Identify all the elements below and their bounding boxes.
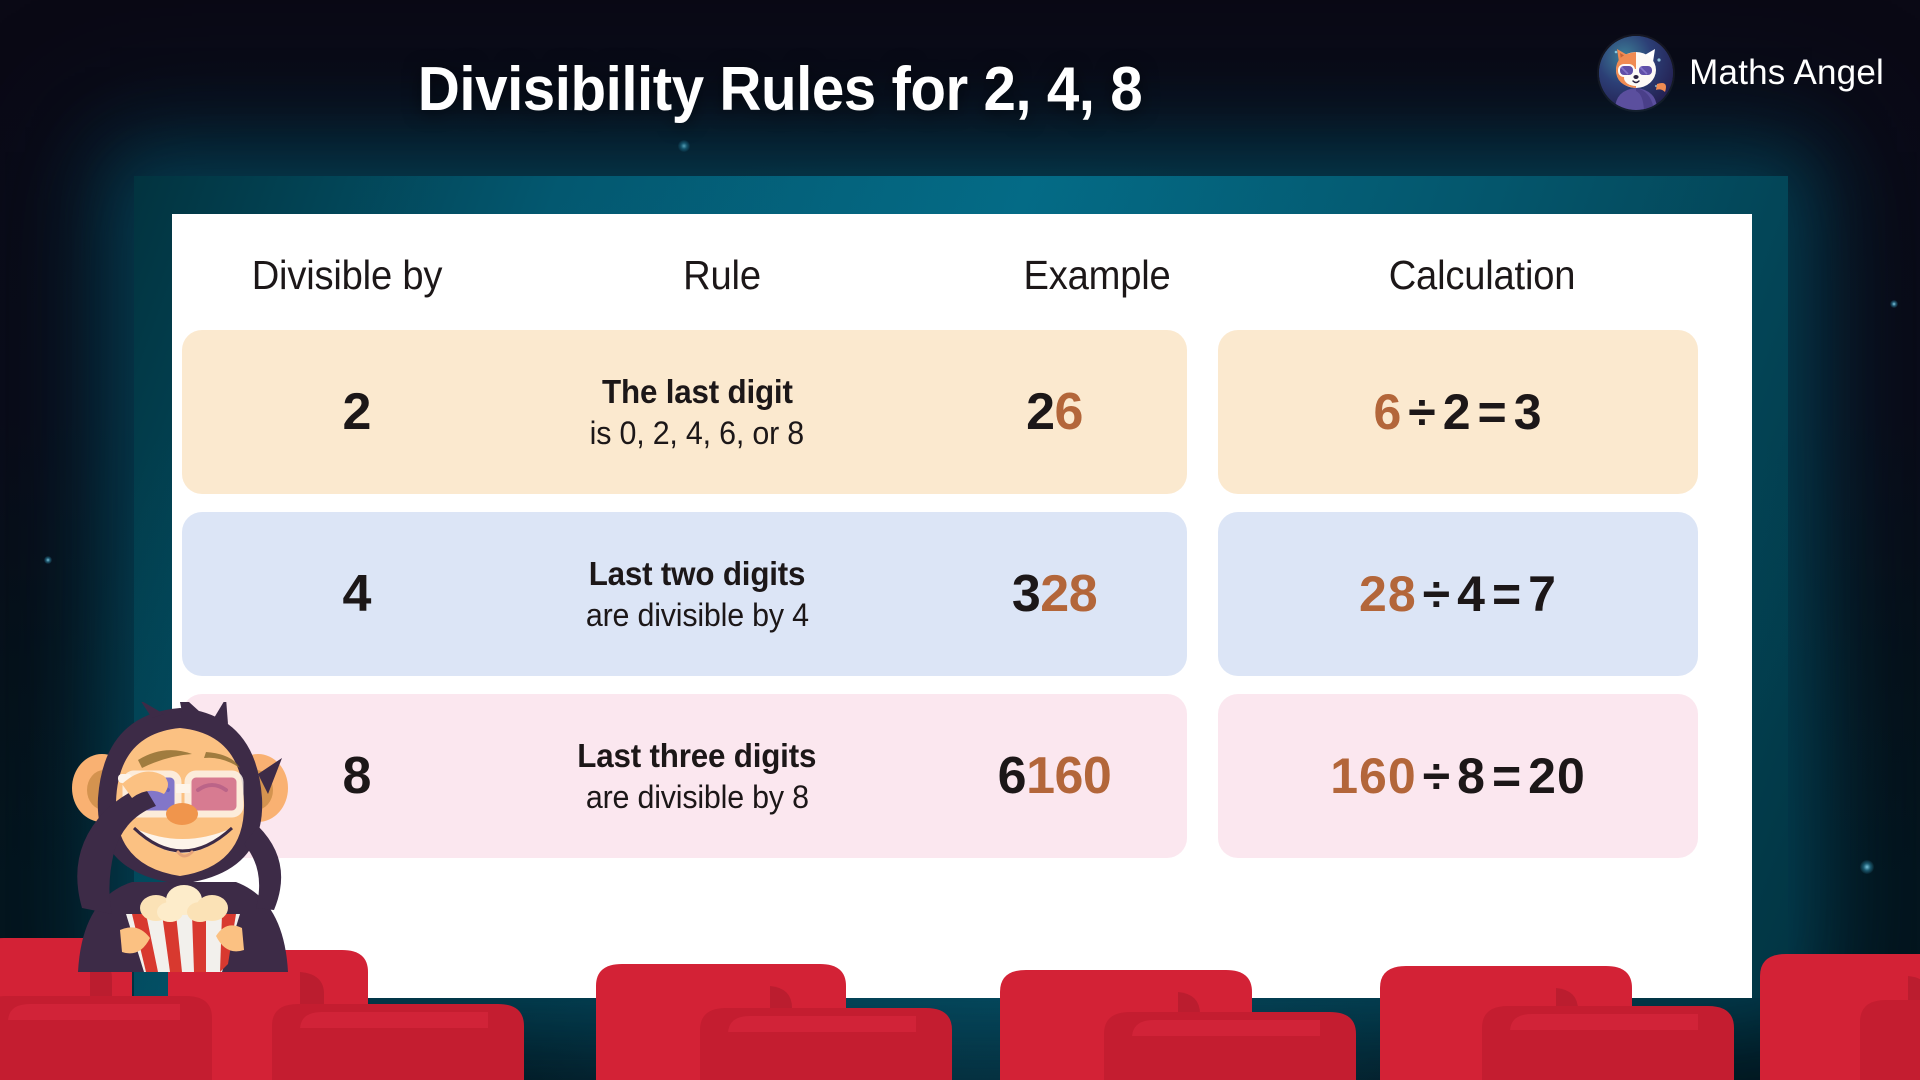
rule-primary-text: The last digit <box>602 373 793 411</box>
rule-primary-text: Last two digits <box>589 555 806 593</box>
maths-angel-fox-badge-icon <box>1599 36 1673 110</box>
calculation-expression: 28÷4=7 <box>1359 565 1557 623</box>
rule-secondary-text: are divisible by 8 <box>585 779 808 816</box>
divide-icon: ÷ <box>1417 566 1457 622</box>
cell-rule: The last digit is 0, 2, 4, 6, or 8 <box>482 330 912 494</box>
calc-divisor: 8 <box>1457 748 1486 804</box>
calc-divisor: 4 <box>1457 566 1486 622</box>
calc-result: 7 <box>1528 566 1557 622</box>
example-prefix: 3 <box>1012 564 1040 624</box>
equals-icon: = <box>1486 748 1528 804</box>
divide-icon: ÷ <box>1402 384 1442 440</box>
brand-name: Maths Angel <box>1689 53 1884 93</box>
cell-divisor: 2 <box>232 330 482 494</box>
example-highlight: 28 <box>1040 564 1097 624</box>
row-calculation-card: 6÷2=3 <box>1218 330 1698 494</box>
example-highlight: 6 <box>1055 382 1083 442</box>
table-row: 8 Last three digits are divisible by 8 6… <box>172 694 1752 858</box>
example-prefix: 2 <box>1026 382 1054 442</box>
calc-dividend: 6 <box>1373 384 1402 440</box>
sparkle-dot <box>1860 860 1874 874</box>
calc-result: 20 <box>1528 748 1586 804</box>
column-header-calculation: Calculation <box>1296 252 1668 299</box>
row-calculation-card: 160÷8=20 <box>1218 694 1698 858</box>
column-header-rule: Rule <box>564 252 880 299</box>
row-body-card: 8 Last three digits are divisible by 8 6… <box>182 694 1187 858</box>
row-calculation-card: 28÷4=7 <box>1218 512 1698 676</box>
example-highlight: 160 <box>1026 746 1111 806</box>
table-header-row: Divisible by Rule Example Calculation <box>172 252 1752 314</box>
calc-result: 3 <box>1514 384 1543 440</box>
cell-example: 328 <box>922 512 1187 676</box>
cell-example: 6160 <box>922 694 1187 858</box>
sparkle-dot <box>1890 300 1898 308</box>
cell-divisor: 4 <box>232 512 482 676</box>
divide-icon: ÷ <box>1417 748 1457 804</box>
table-row: 4 Last two digits are divisible by 4 328… <box>172 512 1752 676</box>
calc-dividend: 160 <box>1330 748 1416 804</box>
column-header-divisible-by: Divisible by <box>194 252 501 299</box>
equals-icon: = <box>1486 566 1528 622</box>
sparkle-dot <box>44 556 52 564</box>
column-header-example: Example <box>944 252 1251 299</box>
cell-example: 26 <box>922 330 1187 494</box>
row-body-card: 2 The last digit is 0, 2, 4, 6, or 8 26 <box>182 330 1187 494</box>
cinema-screen-content: Divisible by Rule Example Calculation 2 … <box>172 214 1752 998</box>
header: Divisibility Rules for 2, 4, 8 <box>0 0 1920 150</box>
infographic-canvas: Divisibility Rules for 2, 4, 8 <box>0 0 1920 1080</box>
calc-divisor: 2 <box>1443 384 1472 440</box>
calculation-expression: 6÷2=3 <box>1373 383 1542 441</box>
row-body-card: 4 Last two digits are divisible by 4 328 <box>182 512 1187 676</box>
cell-rule: Last two digits are divisible by 4 <box>482 512 912 676</box>
example-prefix: 6 <box>998 746 1026 806</box>
equals-icon: = <box>1472 384 1514 440</box>
table-row: 2 The last digit is 0, 2, 4, 6, or 8 26 … <box>172 330 1752 494</box>
rule-secondary-text: are divisible by 4 <box>585 597 808 634</box>
calc-dividend: 28 <box>1359 566 1417 622</box>
calculation-expression: 160÷8=20 <box>1330 747 1586 805</box>
cell-rule: Last three digits are divisible by 8 <box>482 694 912 858</box>
brand-logo[interactable]: Maths Angel <box>1599 36 1884 110</box>
page-title: Divisibility Rules for 2, 4, 8 <box>47 54 1513 125</box>
monkey-with-3d-glasses-and-popcorn-mascot <box>60 702 300 972</box>
rule-primary-text: Last three digits <box>578 737 817 775</box>
rule-secondary-text: is 0, 2, 4, 6, or 8 <box>590 415 804 452</box>
